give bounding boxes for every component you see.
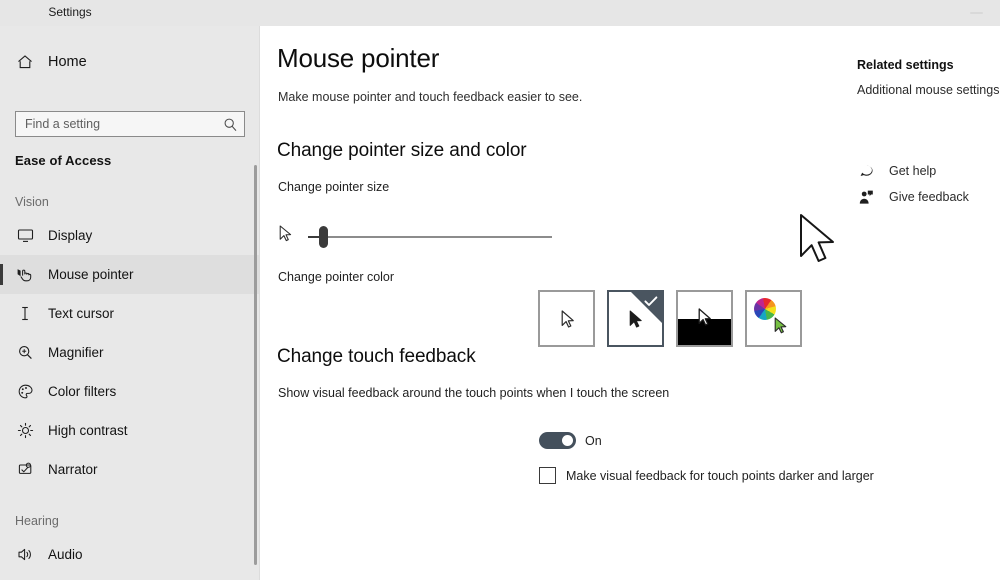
search-icon[interactable] <box>218 112 242 136</box>
page-title: Mouse pointer <box>277 43 439 74</box>
touch-feedback-toggle[interactable] <box>539 432 576 449</box>
sidebar-home-label: Home <box>48 54 87 70</box>
swatch-inverted-pointer[interactable] <box>676 290 733 347</box>
sidebar-nav: Vision Display Mouse pointer <box>0 189 259 574</box>
checkbox-label: Make visual feedback for touch points da… <box>566 469 874 483</box>
give-feedback-icon <box>855 186 877 208</box>
get-help-row[interactable]: Get help <box>855 158 1000 184</box>
mouse-pointer-icon <box>14 264 36 286</box>
swatch-black-pointer[interactable] <box>607 290 664 347</box>
green-cursor-icon <box>773 316 790 338</box>
pointer-color-swatches <box>538 290 802 347</box>
home-icon <box>14 51 36 73</box>
slider-thumb[interactable] <box>319 226 328 248</box>
sidebar-item-home[interactable]: Home <box>0 45 259 79</box>
darker-larger-checkbox-row[interactable]: Make visual feedback for touch points da… <box>539 467 874 484</box>
window-title: Settings <box>0 5 140 19</box>
get-help-label: Get help <box>889 164 936 178</box>
sidebar-item-label: Display <box>48 228 92 243</box>
page-subtitle: Make mouse pointer and touch feedback ea… <box>278 90 582 104</box>
pointer-size-slider[interactable] <box>278 216 578 256</box>
swatch-white-pointer[interactable] <box>538 290 595 347</box>
magnifier-icon <box>14 342 36 364</box>
sidebar: Home Find a setting Ease of Access Visio… <box>0 26 260 580</box>
settings-window: Settings Home Find a setting Ease of A <box>0 0 1000 580</box>
small-cursor-icon <box>278 224 296 246</box>
help-panel: Get help Give feedback <box>855 158 1000 210</box>
sidebar-scrollbar[interactable] <box>254 165 257 565</box>
nav-group-label-vision: Vision <box>0 189 259 216</box>
title-bar: Settings <box>0 0 1000 27</box>
toggle-state-label: On <box>585 434 602 448</box>
darker-larger-checkbox[interactable] <box>539 467 556 484</box>
slider-track[interactable] <box>308 236 552 238</box>
sidebar-item-narrator[interactable]: Narrator <box>0 450 259 489</box>
sidebar-item-audio[interactable]: Audio <box>0 535 259 574</box>
section-heading-pointer: Change pointer size and color <box>277 140 527 162</box>
speaker-icon <box>14 544 36 566</box>
get-help-icon <box>855 160 877 182</box>
narrator-icon <box>14 459 36 481</box>
sidebar-item-label: Color filters <box>48 384 116 399</box>
sidebar-item-label: High contrast <box>48 423 128 438</box>
main-content: Mouse pointer Make mouse pointer and tou… <box>260 26 1000 580</box>
black-cursor-icon <box>628 309 645 331</box>
search-input[interactable]: Find a setting <box>15 111 245 137</box>
sidebar-item-mouse-pointer[interactable]: Mouse pointer <box>0 255 259 294</box>
label-touch-feedback: Show visual feedback around the touch po… <box>278 386 669 400</box>
sidebar-item-color-filters[interactable]: Color filters <box>0 372 259 411</box>
sidebar-item-label: Magnifier <box>48 345 104 360</box>
label-pointer-size: Change pointer size <box>278 180 389 194</box>
sidebar-item-label: Audio <box>48 547 83 562</box>
check-icon <box>644 296 658 307</box>
sidebar-item-display[interactable]: Display <box>0 216 259 255</box>
sidebar-item-text-cursor[interactable]: Text cursor <box>0 294 259 333</box>
toggle-knob <box>562 435 573 446</box>
give-feedback-row[interactable]: Give feedback <box>855 184 1000 210</box>
related-settings-heading: Related settings <box>857 58 1000 72</box>
link-additional-mouse-settings[interactable]: Additional mouse settings <box>857 83 1000 97</box>
sidebar-item-high-contrast[interactable]: High contrast <box>0 411 259 450</box>
label-pointer-color: Change pointer color <box>278 270 394 284</box>
nav-group-label-hearing: Hearing <box>0 508 259 535</box>
minimize-icon[interactable] <box>970 12 983 14</box>
large-cursor-icon <box>796 212 840 272</box>
related-settings-panel: Related settings Additional mouse settin… <box>857 58 1000 97</box>
white-cursor-icon <box>560 309 577 331</box>
sun-contrast-icon <box>14 420 36 442</box>
sidebar-item-magnifier[interactable]: Magnifier <box>0 333 259 372</box>
swatch-custom-color-pointer[interactable] <box>745 290 802 347</box>
section-heading-touch: Change touch feedback <box>277 346 476 368</box>
inverted-cursor-icon <box>697 307 714 331</box>
text-cursor-icon <box>14 303 36 325</box>
search-placeholder: Find a setting <box>16 117 218 131</box>
sidebar-section-title: Ease of Access <box>15 153 111 168</box>
sidebar-item-label: Narrator <box>48 462 98 477</box>
color-palette-icon <box>14 381 36 403</box>
monitor-icon <box>14 225 36 247</box>
sidebar-item-label: Mouse pointer <box>48 267 134 282</box>
sidebar-item-label: Text cursor <box>48 306 114 321</box>
give-feedback-label: Give feedback <box>889 190 969 204</box>
